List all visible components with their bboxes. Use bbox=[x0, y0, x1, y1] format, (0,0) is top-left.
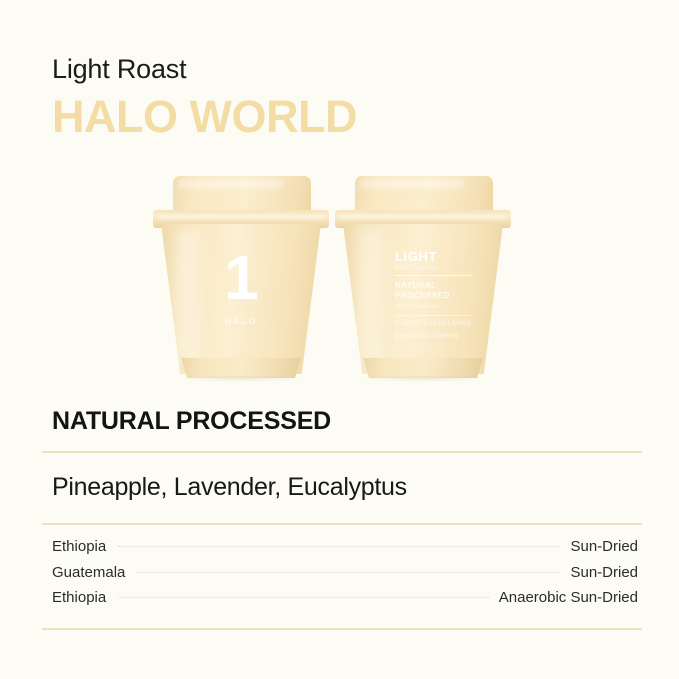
divider-middle bbox=[42, 523, 642, 525]
dotted-leader bbox=[118, 546, 560, 547]
table-row: Ethiopia Sun-Dried bbox=[52, 537, 638, 563]
dotted-leader bbox=[118, 597, 489, 598]
flavor-notes: Pineapple, Lavender, Eucalyptus bbox=[42, 471, 642, 504]
cup-brand-label: HALO bbox=[153, 316, 329, 327]
table-row: Guatemala Sun-Dried bbox=[52, 563, 638, 589]
cup-number-label: 1 bbox=[153, 248, 329, 310]
table-row: Ethiopia Anaerobic Sun-Dried bbox=[52, 588, 638, 614]
cup-footer-line-2: ETHIOPIA COFFEE bbox=[395, 333, 473, 342]
cup-footer-line-1: CUP OF EXCELLENCE bbox=[395, 320, 473, 329]
cup-illustration-group: 1 HALO LIGHT ROAST LEVEL NATURAL PROCESS… bbox=[0, 170, 679, 390]
coffee-cup-front: 1 HALO bbox=[153, 170, 329, 385]
origin-method: Anaerobic Sun-Dried bbox=[499, 588, 638, 607]
cup-shadow bbox=[359, 375, 487, 382]
divider-top bbox=[42, 451, 642, 453]
origin-name: Ethiopia bbox=[52, 588, 106, 607]
origin-name: Guatemala bbox=[52, 563, 125, 582]
cup-shadow bbox=[177, 375, 305, 382]
origin-name: Ethiopia bbox=[52, 537, 106, 556]
cup-label-block: LIGHT ROAST LEVEL NATURAL PROCESSED 100%… bbox=[395, 250, 473, 341]
origin-table: Ethiopia Sun-Dried Guatemala Sun-Dried E… bbox=[42, 537, 642, 614]
coffee-cup-back: LIGHT ROAST LEVEL NATURAL PROCESSED 100%… bbox=[335, 170, 511, 385]
process-heading: NATURAL PROCESSED bbox=[42, 404, 642, 438]
cup-roast-sublabel: ROAST LEVEL bbox=[395, 265, 473, 272]
product-card: Light Roast HALO WORLD 1 HALO LIGHT ROAS… bbox=[0, 0, 679, 679]
header: Light Roast HALO WORLD bbox=[52, 52, 632, 144]
origin-method: Sun-Dried bbox=[570, 537, 638, 556]
cup-label-divider bbox=[395, 275, 473, 276]
roast-level-label: Light Roast bbox=[52, 52, 632, 86]
page-title: HALO WORLD bbox=[52, 90, 632, 144]
product-details: NATURAL PROCESSED Pineapple, Lavender, E… bbox=[42, 404, 642, 630]
cup-process-label: NATURAL PROCESSED bbox=[395, 281, 473, 300]
divider-bottom bbox=[42, 628, 642, 630]
origin-method: Sun-Dried bbox=[570, 563, 638, 582]
dotted-leader bbox=[137, 572, 560, 573]
cup-label-divider-secondary bbox=[395, 315, 473, 316]
cup-roast-label: LIGHT bbox=[395, 250, 473, 264]
cup-notes-label: 100% Arabica bbox=[395, 303, 473, 311]
